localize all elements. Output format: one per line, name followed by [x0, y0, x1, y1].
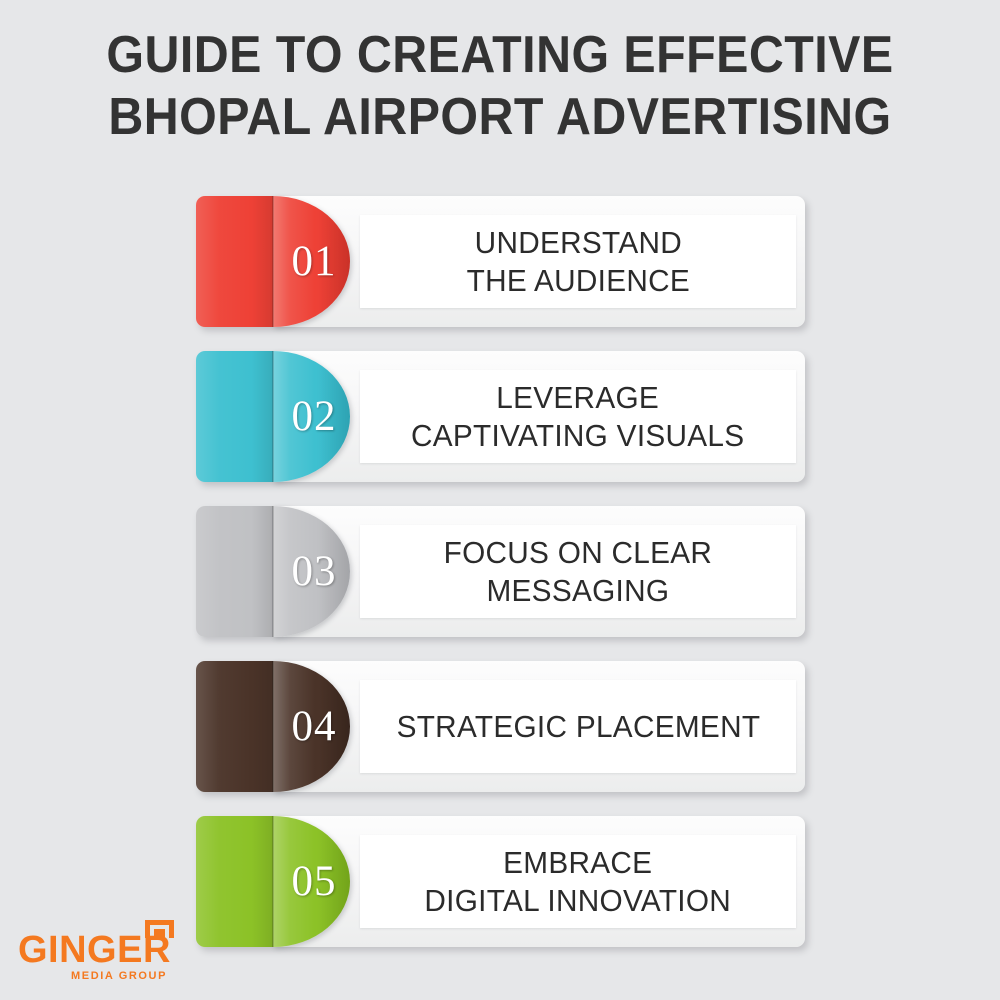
step-color-block: [196, 661, 273, 792]
step-seam: [272, 351, 274, 482]
step-color-block: [196, 351, 273, 482]
step-seam: [272, 661, 274, 792]
step-color-dome: [273, 196, 350, 327]
step-color-block: [196, 506, 273, 637]
step-item-strategic-placement[interactable]: 04 STRATEGIC PLACEMENT: [196, 661, 805, 792]
step-text-panel: STRATEGIC PLACEMENT: [360, 680, 796, 773]
brand-tagline: MEDIA GROUP: [71, 970, 167, 982]
steps-list: 01 UNDERSTAND THE AUDIENCE 02 LEVERAGE C…: [196, 196, 816, 971]
step-item-understand-the-audience[interactable]: 01 UNDERSTAND THE AUDIENCE: [196, 196, 805, 327]
step-text-panel: LEVERAGE CAPTIVATING VISUALS: [360, 370, 796, 463]
step-seam: [272, 506, 274, 637]
title-line-1: GUIDE TO CREATING EFFECTIVE: [35, 24, 965, 86]
page-title: GUIDE TO CREATING EFFECTIVE BHOPAL AIRPO…: [0, 24, 1000, 148]
step-text-panel: FOCUS ON CLEAR MESSAGING: [360, 525, 796, 618]
step-color-block: [196, 196, 273, 327]
step-label: STRATEGIC PLACEMENT: [396, 708, 760, 746]
step-label: EMBRACE DIGITAL INNOVATION: [425, 844, 732, 920]
step-item-embrace-digital-innovation[interactable]: 05 EMBRACE DIGITAL INNOVATION: [196, 816, 805, 947]
step-label: FOCUS ON CLEAR MESSAGING: [444, 534, 713, 610]
step-item-focus-on-clear-messaging[interactable]: 03 FOCUS ON CLEAR MESSAGING: [196, 506, 805, 637]
step-text-panel: EMBRACE DIGITAL INNOVATION: [360, 835, 796, 928]
step-text-panel: UNDERSTAND THE AUDIENCE: [360, 215, 796, 308]
step-item-leverage-captivating-visuals[interactable]: 02 LEVERAGE CAPTIVATING VISUALS: [196, 351, 805, 482]
brand-logo[interactable]: GINGER MEDIA GROUP: [18, 920, 203, 982]
step-color-dome: [273, 351, 350, 482]
step-color-dome: [273, 661, 350, 792]
step-seam: [272, 816, 274, 947]
step-color-block: [196, 816, 273, 947]
step-color-dome: [273, 506, 350, 637]
title-line-2: BHOPAL AIRPORT ADVERTISING: [35, 86, 965, 148]
step-label: LEVERAGE CAPTIVATING VISUALS: [411, 379, 744, 455]
step-label: UNDERSTAND THE AUDIENCE: [466, 224, 689, 300]
step-seam: [272, 196, 274, 327]
nested-squares-icon: [145, 920, 178, 948]
step-color-dome: [273, 816, 350, 947]
